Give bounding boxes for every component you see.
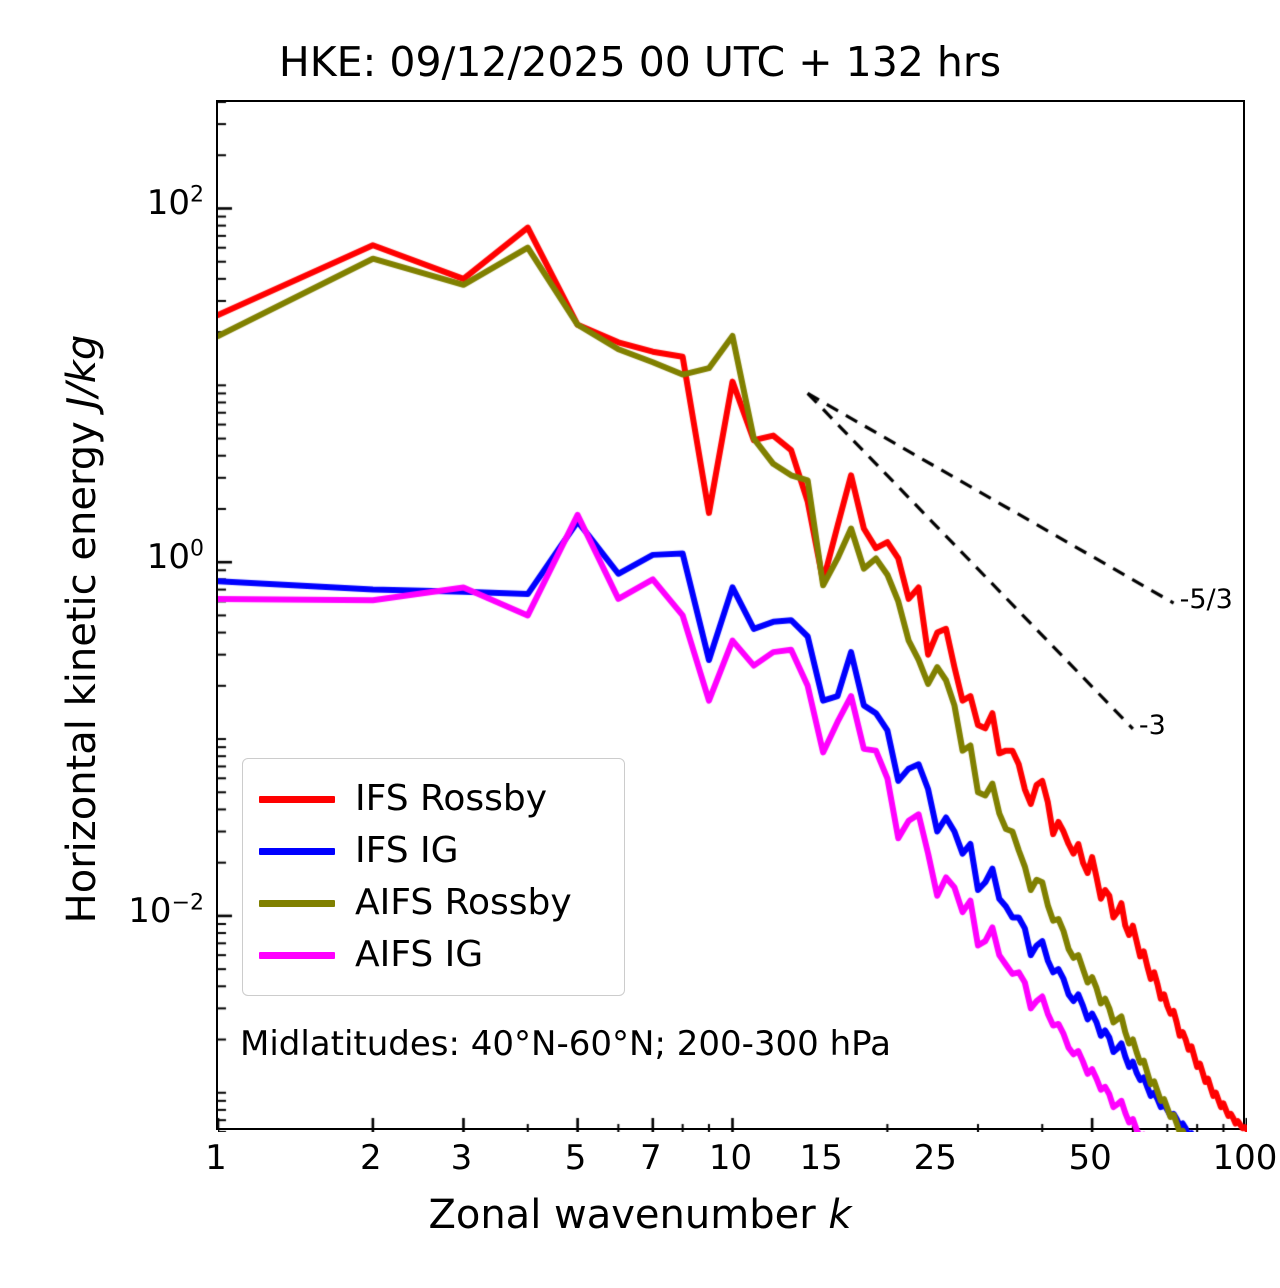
y-tick-base: 10: [128, 891, 171, 931]
x-tick-label: 3: [451, 1138, 473, 1178]
x-tick-label: 2: [360, 1138, 382, 1178]
y-tick-exponent: 2: [190, 183, 204, 208]
slope-reference-label: -5/3: [1180, 585, 1233, 615]
legend-item[interactable]: IFS IG: [259, 825, 606, 877]
x-tick-label: 7: [640, 1138, 662, 1178]
y-tick-base: 10: [147, 183, 190, 223]
y-axis-label-units: J/kg: [59, 335, 105, 409]
figure-canvas: HKE: 09/12/2025 00 UTC + 132 hrs 1021001…: [0, 0, 1280, 1288]
y-tick-label: 102: [147, 186, 204, 220]
legend-color-swatch: [259, 900, 335, 907]
legend-label: AIFS IG: [355, 935, 483, 975]
x-tick-label: 1: [205, 1138, 227, 1178]
x-axis-label-symbol: k: [828, 1192, 851, 1238]
legend-item[interactable]: AIFS Rossby: [259, 877, 606, 929]
x-tick-label: 15: [799, 1138, 842, 1178]
x-axis-label-text: Zonal wavenumber: [428, 1192, 828, 1238]
y-tick-exponent: 0: [190, 537, 204, 562]
legend-item[interactable]: IFS Rossby: [259, 773, 606, 825]
x-tick-label: 10: [709, 1138, 752, 1178]
y-tick-label: 100: [147, 540, 204, 574]
legend-label: IFS IG: [355, 831, 459, 871]
x-tick-label: 25: [914, 1138, 957, 1178]
x-axis-tick-labels: 1235710152550100: [0, 1138, 1280, 1198]
legend-label: AIFS Rossby: [355, 883, 572, 923]
x-tick-label: 5: [565, 1138, 587, 1178]
legend-color-swatch: [259, 952, 335, 959]
slope-reference-label: -3: [1139, 711, 1166, 741]
region-annotation: Midlatitudes: 40°N-60°N; 200-300 hPa: [240, 1024, 891, 1064]
legend-color-swatch: [259, 848, 335, 855]
y-axis-label-text: Horizontal kinetic energy: [59, 409, 105, 924]
y-tick-base: 10: [147, 537, 190, 577]
x-tick-label: 50: [1068, 1138, 1111, 1178]
y-tick-exponent: −2: [172, 891, 204, 916]
legend-color-swatch: [259, 796, 335, 803]
y-axis-label: Horizontal kinetic energy J/kg: [59, 229, 105, 1029]
legend-label: IFS Rossby: [355, 779, 547, 819]
x-tick-label: 100: [1213, 1138, 1278, 1178]
legend-item[interactable]: AIFS IG: [259, 929, 606, 981]
x-axis-label: Zonal wavenumber k: [0, 1192, 1280, 1238]
y-tick-label: 10−2: [128, 894, 204, 928]
chart-legend: IFS RossbyIFS IGAIFS RossbyAIFS IG: [242, 758, 625, 996]
